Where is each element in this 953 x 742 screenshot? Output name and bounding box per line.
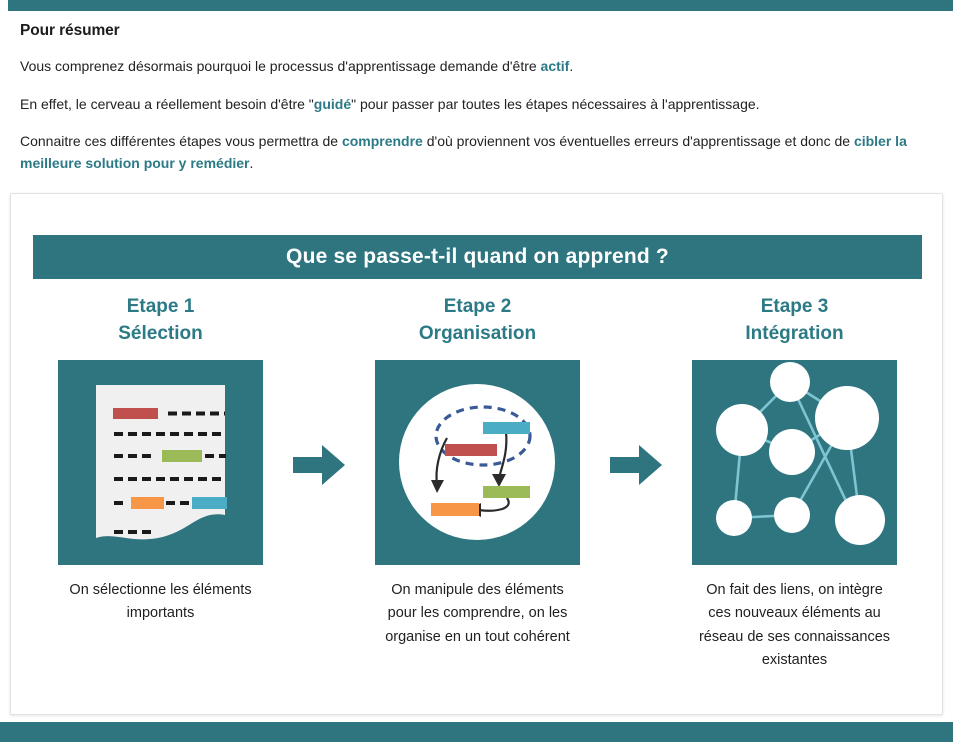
- step-1-heading: Etape 1 Sélection: [118, 294, 202, 348]
- step-3-illustration-panel: [692, 360, 897, 565]
- paragraph-1-text-before: Vous comprenez désormais pourquoi le pro…: [20, 58, 541, 74]
- arrow-slot-2: [605, 294, 667, 486]
- arrow-right-icon: [610, 444, 662, 486]
- paragraph-1-text-after: .: [569, 58, 573, 74]
- step-2-caption: On manipule des éléments pour les compre…: [378, 579, 578, 649]
- infographic-title: Que se passe-t-il quand on apprend ?: [33, 235, 922, 279]
- paragraph-2-text-after: " pour passer par toutes les étapes néce…: [351, 96, 759, 112]
- steps-row: Etape 1 Sélection: [33, 294, 922, 673]
- paragraph-2-text-before: En effet, le cerveau a réellement besoin…: [20, 96, 314, 112]
- step-2-illustration-panel: [375, 360, 580, 565]
- step-column-3: Etape 3 Intégration: [667, 294, 922, 673]
- step-3-heading: Etape 3 Intégration: [745, 294, 843, 348]
- link-guide[interactable]: guidé: [314, 96, 351, 112]
- infographic-card: Que se passe-t-il quand on apprend ? Eta…: [10, 193, 943, 715]
- bottom-teal-rule: [0, 722, 953, 742]
- arrow-slot-1: [288, 294, 350, 486]
- page-title: Pour résumer: [20, 22, 920, 40]
- network-nodes-icon: [692, 360, 897, 565]
- link-actif[interactable]: actif: [541, 58, 570, 74]
- document-highlight-icon: [58, 360, 263, 565]
- paragraph-3-text-before: Connaitre ces différentes étapes vous pe…: [20, 133, 342, 149]
- paragraph-3: Connaitre ces différentes étapes vous pe…: [20, 131, 920, 174]
- step-column-2: Etape 2 Organisation: [350, 294, 605, 649]
- paragraph-2: En effet, le cerveau a réellement besoin…: [20, 94, 920, 116]
- paragraph-3-text-after: .: [250, 155, 254, 171]
- page-root: Pour résumer Vous comprenez désormais po…: [0, 0, 953, 742]
- step-column-1: Etape 1 Sélection: [33, 294, 288, 626]
- top-teal-rule: [8, 0, 953, 11]
- organisation-diagram-icon: [375, 360, 580, 565]
- paragraph-3-text-middle: d'où proviennent vos éventuelles erreurs…: [423, 133, 854, 149]
- step-1-caption: On sélectionne les éléments importants: [61, 579, 261, 626]
- summary-section: Pour résumer Vous comprenez désormais po…: [20, 22, 920, 175]
- step-3-caption: On fait des liens, on intègre ces nouvea…: [695, 579, 895, 673]
- link-comprendre[interactable]: comprendre: [342, 133, 423, 149]
- paragraph-1: Vous comprenez désormais pourquoi le pro…: [20, 56, 920, 78]
- arrow-right-icon: [293, 444, 345, 486]
- step-2-heading: Etape 2 Organisation: [419, 294, 536, 348]
- step-1-illustration-panel: [58, 360, 263, 565]
